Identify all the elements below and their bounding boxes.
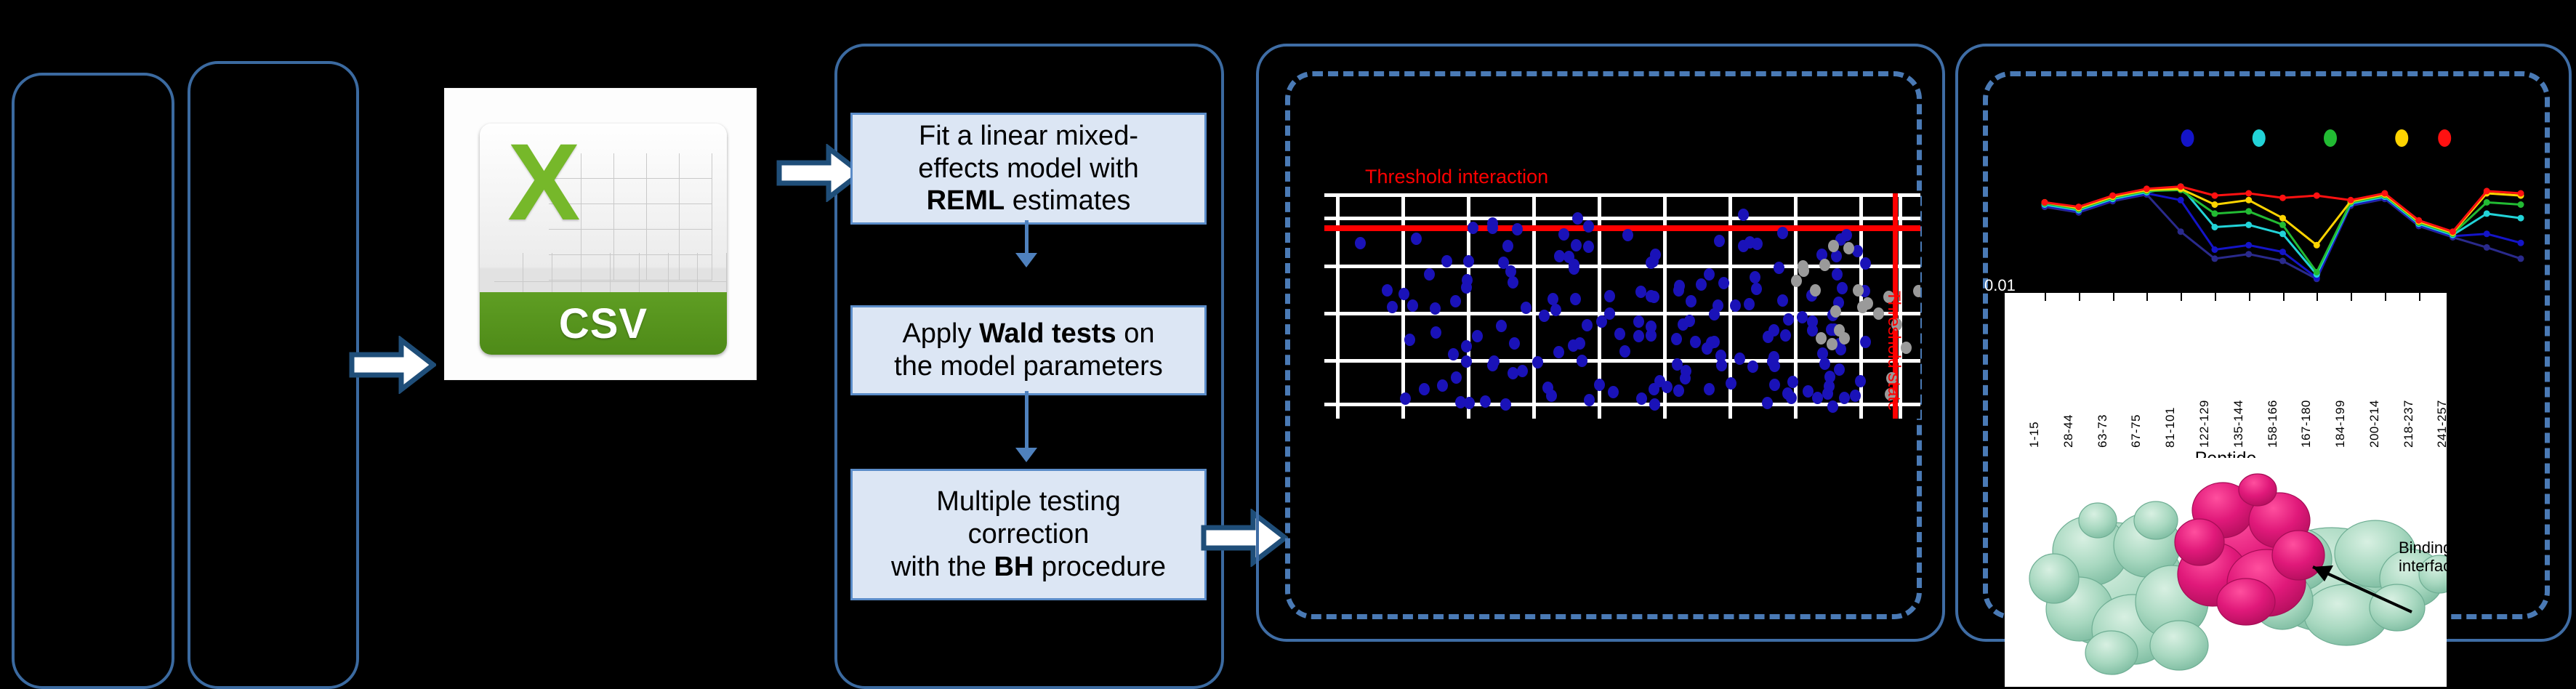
scatter-point-significant — [1704, 268, 1715, 281]
scatter-point-significant — [1684, 315, 1695, 327]
scatter-point-significant — [1709, 336, 1720, 348]
scatter-point-significant — [1550, 304, 1561, 316]
scatter-point-significant — [1646, 329, 1657, 342]
threshold-interaction-label: Threshold interaction — [1365, 166, 1548, 188]
scatter-point-significant — [1769, 379, 1780, 391]
peptide-x-tick-label: 122-129 — [2197, 400, 2212, 448]
connector-2-arrowhead — [1015, 448, 1037, 462]
peptide-x-tick-label: 81-101 — [2163, 407, 2178, 448]
peptide-legend-marker — [2438, 129, 2451, 147]
scatter-point-significant — [1355, 237, 1366, 249]
scatter-point-significant — [1608, 386, 1619, 398]
peptide-series-point — [2450, 228, 2456, 235]
peptide-x-tick-label: 167-180 — [2299, 400, 2314, 448]
scatter-point-significant — [1472, 330, 1483, 342]
scatter-point-significant — [1822, 387, 1833, 400]
scatter-point-significant — [1696, 278, 1707, 291]
pipeline-diagram: X CSV Fit a linear mixed-effects model w… — [0, 0, 2576, 687]
scatter-point-significant — [1539, 310, 1550, 322]
scatter-point-other — [1853, 284, 1864, 297]
peptide-series-point — [2415, 217, 2422, 224]
scatter-point-significant — [1521, 302, 1531, 314]
scatter-point-significant — [1774, 262, 1784, 274]
scatter-point-significant — [1594, 379, 1605, 391]
scatter-point-significant — [1569, 259, 1579, 271]
excel-x-glyph: X — [487, 124, 600, 249]
scatter-point-significant — [1730, 299, 1741, 312]
peptide-series-point — [2518, 190, 2524, 197]
step-multiple-testing-text: Multiple testingcorrectionwith the BH pr… — [884, 485, 1173, 583]
scatter-point-other — [1816, 332, 1827, 344]
peptide-series-point — [2484, 230, 2490, 237]
peptide-series-point — [2211, 246, 2218, 253]
csv-label-band: CSV — [480, 292, 727, 355]
scatter-point-significant — [1747, 360, 1758, 373]
peptide-series-point — [2484, 210, 2490, 217]
peptide-x-tick-label: 158-166 — [2266, 400, 2280, 448]
scatter-point-significant — [1718, 277, 1729, 289]
scatter-point-significant — [1777, 294, 1788, 307]
threshold-interaction-line — [1324, 225, 1920, 231]
scatter-point-significant — [1500, 398, 1511, 411]
scatter-point-significant — [1517, 365, 1528, 377]
peptide-series-point — [2279, 222, 2286, 228]
input-panel — [12, 73, 174, 689]
scatter-point-other — [1839, 332, 1850, 344]
scatter-point-significant — [1824, 371, 1835, 383]
peptide-series-point — [2314, 269, 2320, 275]
peptide-series-point — [2314, 242, 2320, 249]
scatter-point-significant — [1619, 345, 1630, 358]
scatter-point-significant — [1498, 257, 1509, 269]
peptide-series-point — [2211, 201, 2218, 208]
scatter-point-significant — [1827, 400, 1838, 413]
scatter-point-significant — [1787, 376, 1798, 388]
scatter-point-significant — [1547, 293, 1558, 305]
peptide-x-tick-label: 200-214 — [2367, 400, 2382, 448]
scatter-point-significant — [1855, 375, 1866, 387]
scatter-point-significant — [1419, 383, 1430, 395]
connector-1 — [1025, 220, 1029, 257]
scatter-point-significant — [1604, 290, 1615, 302]
scatter-point-significant — [1463, 255, 1474, 267]
scatter-point-significant — [1768, 351, 1779, 363]
peptide-legend-marker — [2253, 129, 2266, 147]
scatter-point-significant — [1461, 355, 1472, 368]
scatter-point-significant — [1554, 250, 1565, 262]
gridline-h — [1324, 193, 1920, 197]
step-multiple-testing-box[interactable]: Multiple testingcorrectionwith the BH pr… — [850, 469, 1207, 600]
scatter-point-significant — [1649, 291, 1659, 303]
scatter-point-significant — [1635, 286, 1646, 298]
scatter-point-significant — [1542, 382, 1553, 394]
scatter-point-significant — [1496, 320, 1507, 332]
peptide-series-point — [2245, 222, 2252, 228]
scatter-point-significant — [1411, 233, 1422, 245]
scatter-point-significant — [1553, 346, 1564, 358]
data-panel — [188, 61, 359, 689]
peptide-x-axis-line — [2005, 291, 2447, 293]
peptide-axis-card: 1-1528-4463-7367-7581-101122-129135-1441… — [2005, 291, 2447, 472]
scatter-point-significant — [1762, 397, 1773, 409]
peptide-series-point — [2245, 242, 2252, 249]
arrow-input-to-data — [349, 336, 436, 394]
peptide-series-point — [2109, 193, 2116, 199]
peptide-x-tick-label: 184-199 — [2333, 400, 2348, 448]
scatter-point-significant — [1686, 295, 1696, 307]
binding-interface-line2: interface — [2399, 557, 2566, 576]
scatter-point-significant — [1558, 228, 1569, 241]
scatter-point-significant — [1532, 356, 1543, 368]
scatter-point-other — [1828, 240, 1839, 252]
peptide-series-point — [2484, 199, 2490, 206]
scatter-point-significant — [1570, 293, 1581, 305]
scatter-point-significant — [1404, 334, 1415, 346]
gridline-h — [1324, 359, 1920, 363]
scatter-point-significant — [1468, 222, 1478, 234]
scatter-point-significant — [1672, 358, 1683, 371]
peptide-series-point — [2279, 258, 2286, 265]
scatter-point-significant — [1673, 284, 1684, 297]
peptide-series-point — [2381, 190, 2388, 197]
scatter-point-significant — [1577, 355, 1587, 367]
scatter-point-significant — [1649, 398, 1660, 411]
scatter-point-significant — [1633, 330, 1644, 342]
peptide-legend-marker — [2324, 129, 2337, 147]
peptide-series-point — [2279, 249, 2286, 255]
scatter-point-other — [1913, 285, 1920, 297]
step-wald-tests-box[interactable]: Apply Wald tests onthe model parameters — [850, 305, 1207, 395]
scatter-point-significant — [1487, 222, 1498, 234]
scatter-point-significant — [1712, 299, 1723, 312]
peptide-x-tick-label: 218-237 — [2402, 400, 2416, 448]
scatter-point-significant — [1780, 329, 1791, 342]
scatter-point-significant — [1441, 255, 1452, 267]
scatter-point-other — [1791, 275, 1802, 287]
scatter-point-significant — [1584, 394, 1595, 406]
scatter-point-significant — [1633, 315, 1644, 328]
step-wald-tests-text: Apply Wald tests onthe model parameters — [887, 318, 1170, 383]
peptide-series-point — [2518, 215, 2524, 222]
peptide-x-tick-label: 1-15 — [2027, 422, 2042, 448]
scatter-point-significant — [1812, 392, 1823, 404]
peptide-series-point — [2314, 193, 2320, 199]
scatter-point-significant — [1832, 268, 1843, 281]
scatter-point-other — [1819, 259, 1830, 271]
peptide-x-tick-label: 67-75 — [2129, 414, 2144, 448]
scatter-point-significant — [1783, 313, 1794, 326]
peptide-series-point — [2178, 228, 2184, 235]
peptide-series-point — [2245, 197, 2252, 204]
csv-label-text: CSV — [559, 299, 648, 348]
scatter-point-significant — [1583, 220, 1594, 233]
peptide-series-point — [2279, 195, 2286, 201]
scatter-point-significant — [1726, 377, 1736, 390]
scatter-point-significant — [1437, 379, 1448, 392]
connector-1-arrowhead — [1015, 253, 1037, 267]
scatter-point-significant — [1860, 336, 1871, 348]
scatter-point-significant — [1571, 239, 1582, 251]
scatter-point-significant — [1455, 396, 1466, 408]
peptide-series-point — [2211, 210, 2218, 217]
scatter-point-other — [1810, 284, 1821, 297]
scatter-point-significant — [1614, 328, 1625, 340]
binding-interface-line1: Binding — [2399, 539, 2566, 557]
scatter-point-significant — [1502, 240, 1513, 252]
scatter-point-significant — [1400, 392, 1411, 405]
scatter-point-significant — [1509, 337, 1520, 350]
scatter-point-other — [1830, 305, 1841, 318]
scatter-point-significant — [1430, 326, 1441, 339]
peptide-legend-marker — [2181, 129, 2194, 147]
scatter-point-significant — [1750, 271, 1760, 283]
scatter-point-significant — [1572, 212, 1583, 225]
scatter-point-significant — [1704, 383, 1715, 395]
scatter-point-significant — [1649, 383, 1659, 395]
peptide-series-point — [2484, 244, 2490, 251]
peptide-series-point — [2518, 240, 2524, 246]
scatter-point-significant — [1734, 352, 1745, 365]
peptide-x-tick-label: 28-44 — [2061, 414, 2076, 448]
scatter-point-significant — [1650, 249, 1661, 261]
csv-file-icon: X CSV — [480, 124, 727, 355]
scatter-point-significant — [1673, 384, 1684, 397]
peptide-series-point — [2279, 215, 2286, 222]
scatter-point-significant — [1512, 223, 1523, 235]
peptide-series-point — [2245, 208, 2252, 214]
scatter-point-other — [1862, 297, 1873, 310]
scatter-point-significant — [1744, 298, 1755, 310]
peptide-series-point — [2348, 197, 2354, 204]
peptide-series-point — [2211, 255, 2218, 262]
scatter-point-significant — [1461, 281, 1472, 294]
scatter-point-significant — [1448, 348, 1459, 360]
peptide-series-point — [2211, 224, 2218, 230]
scatter-point-other — [1827, 338, 1838, 350]
scatter-point-significant — [1744, 236, 1755, 249]
scatter-point-significant — [1777, 227, 1788, 239]
scatter-point-significant — [1398, 288, 1409, 300]
scatter-point-significant — [1837, 282, 1848, 294]
scatter-point-significant — [1690, 336, 1701, 348]
gridline-h — [1324, 265, 1920, 268]
volcano-scatter — [1324, 193, 1920, 419]
scatter-point-significant — [1751, 283, 1762, 295]
peptide-series-point — [2042, 199, 2048, 206]
scatter-point-significant — [1671, 333, 1682, 345]
peptide-series-point — [2144, 185, 2150, 192]
protein-structure-image — [2005, 458, 2447, 687]
scatter-point-significant — [1596, 315, 1607, 328]
peptide-x-tick-label: 241-257 — [2435, 400, 2447, 448]
peptide-series-point — [2075, 204, 2082, 210]
step-fit-model-box[interactable]: Fit a linear mixed-effects model withREM… — [850, 113, 1207, 225]
scatter-point-significant — [1807, 315, 1818, 328]
scatter-point-significant — [1839, 392, 1850, 404]
peptide-line-chart — [2005, 109, 2535, 287]
scatter-point-significant — [1382, 284, 1393, 297]
scatter-point-other — [1798, 265, 1809, 277]
threshold-state-label: Threshold state — [1883, 291, 1904, 411]
peptide-series-point — [2279, 230, 2286, 237]
scatter-point-significant — [1487, 359, 1498, 371]
peptide-series-point — [2178, 183, 2184, 190]
peptide-x-tick-label: 63-73 — [2096, 414, 2110, 448]
peptide-series-point — [2245, 190, 2252, 197]
peptide-series-point — [2484, 188, 2490, 194]
peptide-series-point — [2211, 193, 2218, 199]
scatter-point-significant — [1680, 372, 1691, 384]
connector-2 — [1025, 391, 1029, 451]
gridline-h — [1324, 217, 1920, 220]
scatter-point-significant — [1768, 324, 1779, 337]
peptide-series-point — [2518, 255, 2524, 262]
scatter-point-significant — [1508, 276, 1518, 289]
step-fit-model-text: Fit a linear mixed-effects model withREM… — [911, 120, 1146, 217]
scatter-point-significant — [1834, 363, 1845, 376]
scatter-point-significant — [1714, 235, 1725, 247]
peptide-series-point — [2245, 251, 2252, 257]
scatter-point-significant — [1451, 371, 1462, 384]
peptide-series-point — [2178, 197, 2184, 204]
peptide-legend-marker — [2395, 129, 2408, 147]
peptide-series-point — [2518, 201, 2524, 208]
scatter-point-significant — [1407, 299, 1418, 312]
scatter-point-significant — [1583, 241, 1594, 253]
scatter-point-significant — [1450, 295, 1461, 307]
scatter-point-significant — [1622, 229, 1633, 241]
scatter-point-significant — [1424, 268, 1435, 281]
scatter-point-significant — [1461, 340, 1472, 352]
peptide-x-tick-label: 135-144 — [2231, 400, 2246, 448]
scatter-point-significant — [1574, 337, 1585, 350]
binding-interface-label: Binding interface — [2399, 539, 2566, 575]
scatter-point-significant — [1582, 319, 1593, 331]
